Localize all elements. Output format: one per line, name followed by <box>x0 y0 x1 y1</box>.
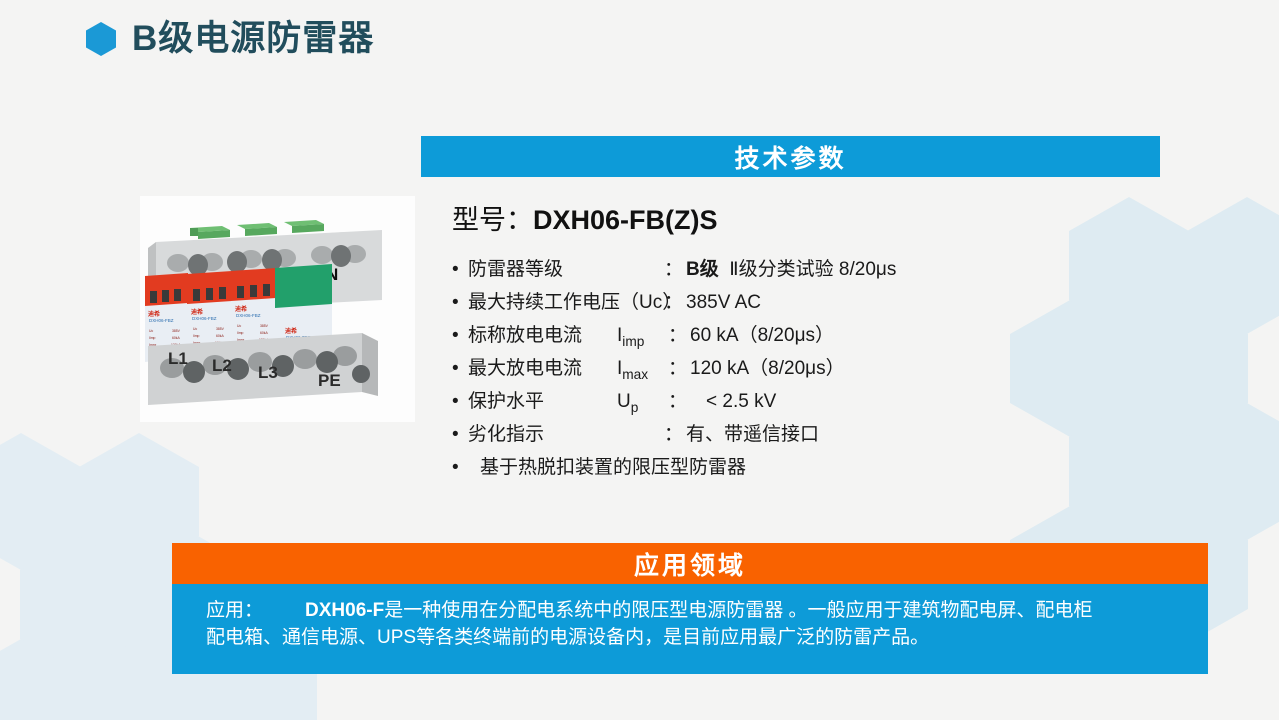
spec-symbol: Up <box>617 391 668 415</box>
svg-text:L1: L1 <box>168 349 188 368</box>
svg-text:60kA: 60kA <box>172 336 180 340</box>
svg-text:385V: 385V <box>216 327 225 331</box>
spec-symbol-sub: imp <box>622 334 644 349</box>
svg-text:DXH06-FBZ: DXH06-FBZ <box>236 313 261 318</box>
hexagon-icon <box>86 22 116 56</box>
spec-value: < 2.5 kV <box>690 391 776 413</box>
svg-text:60kA: 60kA <box>216 334 224 338</box>
product-photo-image: N DXH06-FBZ DXH06-FB <box>140 196 415 422</box>
specification-list: 型号：DXH06-FB(Z)S • 防雷器等级 ： B级 Ⅱ级分类试验 8/20… <box>452 198 1012 485</box>
spec-symbol: Imax <box>617 358 668 382</box>
spec-name: 保护水平 <box>468 386 613 413</box>
svg-text:Iimp: Iimp <box>237 331 244 335</box>
svg-text:Iimp: Iimp <box>193 334 200 338</box>
spec-symbol-base: U <box>617 391 631 412</box>
list-bullet: • <box>452 326 468 345</box>
spec-value: B级 Ⅱ级分类试验 8/20μs <box>686 254 896 281</box>
list-bullet: • <box>452 392 468 411</box>
spec-value-text: Ⅱ级分类试验 8/20μs <box>729 259 896 280</box>
svg-text:Uc: Uc <box>149 329 153 333</box>
spec-value: 有、带遥信接口 <box>686 419 819 446</box>
application-body: 应用：DXH06-F是一种使用在分配电系统中的限压型电源防雷器 。一般应用于建筑… <box>172 584 1208 674</box>
svg-text:迪希: 迪希 <box>285 327 297 335</box>
spec-name: 防雷器等级 <box>468 254 664 281</box>
spec-name: 最大放电电流 <box>468 353 613 380</box>
application-model: DXH06-F <box>305 600 384 621</box>
svg-text:Uc: Uc <box>193 327 197 331</box>
spec-row: • 保护水平 Up ： < 2.5 kV <box>452 386 1012 419</box>
spec-row: • 防雷器等级 ： B级 Ⅱ级分类试验 8/20μs <box>452 254 1012 287</box>
spec-name: 最大持续工作电压（Uc） <box>468 287 664 314</box>
spec-colon: ： <box>664 254 686 281</box>
spec-row: • 劣化指示 ： 有、带遥信接口 <box>452 419 1012 452</box>
model-line: 型号：DXH06-FB(Z)S <box>452 198 1012 237</box>
spec-name: 基于热脱扣装置的限压型防雷器 <box>468 452 746 479</box>
spec-row: • 标称放电电流 Iimp ： 60 kA（8/20μs） <box>452 320 1012 353</box>
spec-row: • 最大放电电流 Imax ： 120 kA（8/20μs） <box>452 353 1012 386</box>
application-header: 应用领域 <box>172 543 1208 584</box>
spec-row: • 基于热脱扣装置的限压型防雷器 <box>452 452 1012 485</box>
spec-symbol-sub: max <box>622 367 648 382</box>
svg-text:迪希: 迪希 <box>235 305 247 313</box>
svg-text:迪希: 迪希 <box>191 308 203 316</box>
spec-name: 劣化指示 <box>468 419 664 446</box>
svg-text:Uc: Uc <box>237 324 241 328</box>
page-title-text: B级电源防雷器 <box>132 21 374 56</box>
svg-text:Iimp: Iimp <box>149 336 156 340</box>
svg-text:385V: 385V <box>260 324 269 328</box>
list-bullet: • <box>452 458 468 477</box>
spec-value: 120 kA（8/20μs） <box>690 353 845 380</box>
spec-symbol: Iimp <box>617 325 668 349</box>
svg-text:PE: PE <box>318 371 341 390</box>
spec-row: • 最大持续工作电压（Uc） ： 385V AC <box>452 287 1012 320</box>
spec-colon: ： <box>668 386 690 413</box>
application-line1-rest: 是一种使用在分配电系统中的限压型电源防雷器 。一般应用于建筑物配电屏、配电柜 <box>384 600 1092 621</box>
model-label: 型号： <box>452 205 533 235</box>
spec-colon: ： <box>668 320 690 347</box>
spec-name: 标称放电电流 <box>468 320 613 347</box>
svg-text:DXH06-FBZ: DXH06-FBZ <box>192 316 217 321</box>
spec-colon: ： <box>668 353 690 380</box>
spec-value: 60 kA（8/20μs） <box>690 320 834 347</box>
technical-parameters-header: 技术参数 <box>421 136 1160 177</box>
page-title: B级电源防雷器 <box>86 21 374 56</box>
spec-value: 385V AC <box>686 292 761 314</box>
list-bullet: • <box>452 293 468 312</box>
svg-text:L2: L2 <box>212 356 232 375</box>
application-line2: 配电箱、通信电源、UPS等各类终端前的电源设备内，是目前应用最广泛的防雷产品。 <box>206 627 929 648</box>
svg-text:60kA: 60kA <box>260 331 268 335</box>
svg-text:迪希: 迪希 <box>148 310 160 318</box>
product-photo: N DXH06-FBZ DXH06-FB <box>140 196 415 422</box>
technical-parameters-panel: 技术参数 <box>421 136 1160 177</box>
list-bullet: • <box>452 425 468 444</box>
svg-text:L3: L3 <box>258 363 278 382</box>
spec-colon: ： <box>664 419 686 446</box>
model-value: DXH06-FB(Z)S <box>533 205 718 235</box>
spec-colon: ： <box>664 287 686 314</box>
svg-text:385V: 385V <box>172 329 181 333</box>
application-lead-label: 应用： <box>206 600 263 621</box>
list-bullet: • <box>452 359 468 378</box>
list-bullet: • <box>452 260 468 279</box>
spec-value-bold: B级 <box>686 259 719 280</box>
spec-symbol-sub: p <box>631 400 639 415</box>
application-panel: 应用领域 应用：DXH06-F是一种使用在分配电系统中的限压型电源防雷器 。一般… <box>172 543 1208 674</box>
svg-text:DXH06-FBZ: DXH06-FBZ <box>149 318 174 323</box>
